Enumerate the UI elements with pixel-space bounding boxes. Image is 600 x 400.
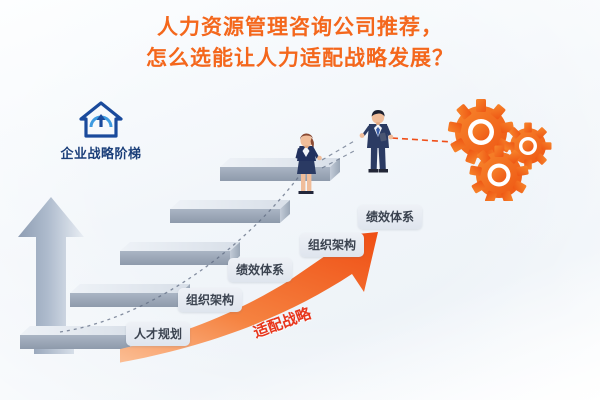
step-label-5: 绩效体系	[358, 205, 422, 229]
step-label-2: 组织架构	[178, 288, 242, 312]
badge-label: 企业战略阶梯	[36, 143, 166, 162]
page-title: 人力资源管理咨询公司推荐， 怎么选能让人力适配战略发展？	[0, 14, 600, 73]
title-line-1: 人力资源管理咨询公司推荐，	[0, 14, 600, 41]
step-label-4: 组织架构	[300, 233, 364, 257]
gears-cluster	[443, 96, 563, 206]
house-with-up-arrow-icon	[78, 100, 124, 140]
step-label-3: 绩效体系	[228, 258, 292, 282]
businessman-figure	[356, 107, 400, 184]
step-label-1: 人才规划	[126, 322, 190, 346]
businesswoman-figure	[286, 132, 326, 203]
poster-canvas: 人力资源管理咨询公司推荐， 怎么选能让人力适配战略发展？	[0, 0, 600, 400]
enterprise-strategy-badge: 企业战略阶梯	[36, 100, 166, 162]
title-line-2: 怎么选能让人力适配战略发展？	[0, 45, 600, 72]
